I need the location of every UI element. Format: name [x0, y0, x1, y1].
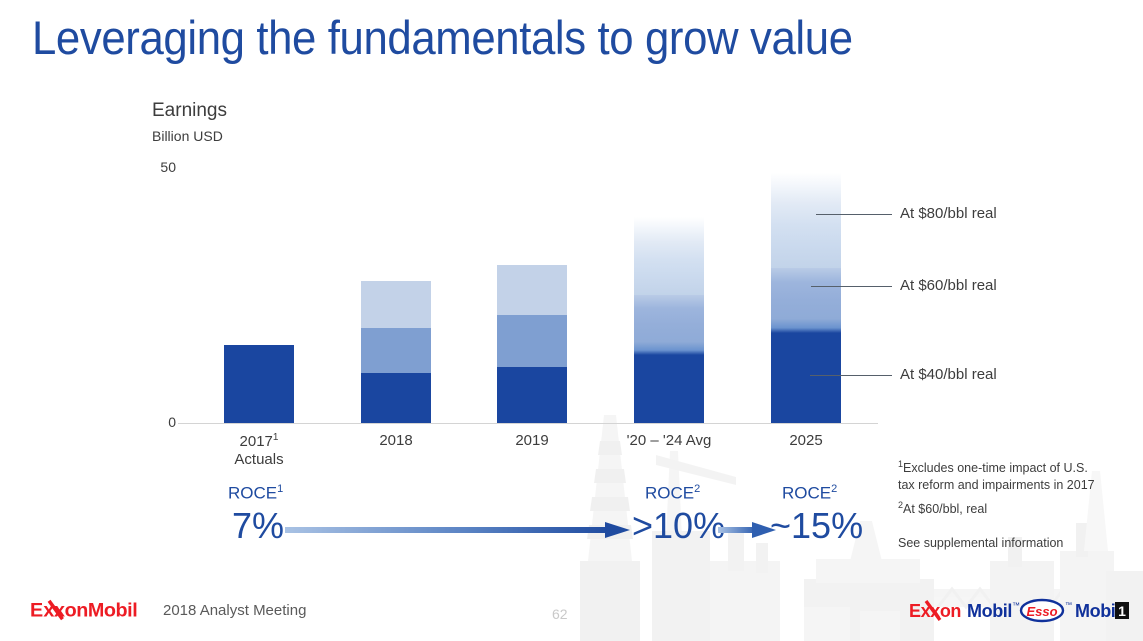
x-axis-label-2020-2024-avg: '20 – '24 Avg — [589, 432, 749, 449]
page-number: 62 — [552, 606, 568, 622]
chart-subtitle: Billion USD — [152, 128, 223, 144]
y-axis-tick-50: 50 — [148, 159, 176, 175]
mobil-1-logo: Mobil 1 — [1075, 601, 1129, 621]
roce-label-2020-2024: ROCE2 — [645, 483, 700, 504]
roce-label-2017: ROCE1 — [228, 483, 283, 504]
callout-label: At $60/bbl real — [900, 277, 997, 294]
roce-label-2025: ROCE2 — [782, 483, 837, 504]
x-axis-label-2025: 2025 — [726, 432, 886, 449]
leader-line — [816, 214, 892, 215]
leader-line — [810, 375, 892, 376]
esso-logo: Esso ™ — [1021, 600, 1072, 621]
brand-logo-row: Exxon Mobil ™ Esso ™ Mobil 1 — [909, 598, 1131, 624]
callout-label: At $40/bbl real — [900, 366, 997, 383]
bar-segment-60bbl — [771, 268, 841, 333]
bar-segment-40bbl — [224, 345, 294, 423]
bar-2025 — [771, 173, 841, 423]
roce-footnote-marker: 2 — [694, 483, 700, 495]
bar-segment-80bbl — [497, 265, 567, 315]
bar-segment-40bbl — [361, 373, 431, 423]
roce-label-text: ROCE — [782, 484, 831, 503]
slide-canvas: Leveraging the fundamentals to grow valu… — [0, 0, 1143, 641]
y-axis-tick-0: 0 — [148, 414, 176, 430]
svg-text:1: 1 — [1118, 603, 1126, 619]
x-label-footnote-marker: 1 — [273, 432, 279, 443]
svg-text:Mobil: Mobil — [1075, 601, 1120, 621]
footnote-text: See supplemental information — [898, 536, 1063, 550]
roce-growth-arrow-long — [285, 519, 630, 541]
x-label-year: 2017 — [240, 433, 273, 450]
x-axis-line — [178, 423, 878, 424]
meeting-label: 2018 Analyst Meeting — [163, 602, 306, 619]
bar-segment-60bbl — [634, 295, 704, 355]
x-label-year: 2018 — [379, 432, 412, 449]
x-axis-label-2019: 2019 — [452, 432, 612, 449]
bar-segment-40bbl — [497, 367, 567, 423]
x-label-year: 2019 — [515, 432, 548, 449]
bar-2020-2024-avg — [634, 217, 704, 423]
bar-segment-80bbl — [634, 217, 704, 295]
bar-2017 — [224, 345, 294, 423]
bar-segment-80bbl — [771, 173, 841, 268]
roce-value-2017: 7% — [232, 508, 284, 544]
leader-line — [811, 286, 892, 287]
roce-label-text: ROCE — [645, 484, 694, 503]
bar-segment-40bbl — [634, 355, 704, 423]
x-label-year: 2025 — [789, 432, 822, 449]
bar-segment-60bbl — [361, 328, 431, 373]
exxon-logo: Exxon — [909, 601, 961, 621]
roce-label-text: ROCE — [228, 484, 277, 503]
x-label-sub: Actuals — [179, 451, 339, 468]
bar-2018 — [361, 281, 431, 423]
svg-text:onMobil: onMobil — [65, 599, 138, 621]
roce-value-2025: ~15% — [770, 508, 863, 544]
svg-text:™: ™ — [1065, 602, 1072, 609]
bar-segment-40bbl — [771, 333, 841, 423]
svg-text:E: E — [30, 599, 43, 621]
roce-value-2020-2024: >10% — [632, 508, 725, 544]
mobil-logo: Mobil ™ — [967, 601, 1020, 621]
roce-footnote-marker: 1 — [277, 483, 283, 495]
chart-title: Earnings — [152, 100, 227, 122]
footnote-text: At $60/bbl, real — [903, 502, 987, 516]
svg-text:Esso: Esso — [1026, 604, 1057, 619]
roce-growth-arrow-short — [718, 519, 776, 541]
x-label-year: '20 – '24 Avg — [627, 432, 712, 449]
footnote-3: See supplemental information — [898, 518, 1128, 552]
bar-segment-60bbl — [497, 315, 567, 367]
svg-text:Mobil: Mobil — [967, 601, 1012, 621]
bar-2019 — [497, 265, 567, 423]
callout-label: At $80/bbl real — [900, 205, 997, 222]
footnote-2: 2At $60/bbl, real — [898, 482, 1128, 518]
roce-footnote-marker: 2 — [831, 483, 837, 495]
bar-segment-80bbl — [361, 281, 431, 328]
svg-text:™: ™ — [1012, 601, 1020, 610]
x-axis-label-2017: 20171 Actuals — [179, 432, 339, 468]
